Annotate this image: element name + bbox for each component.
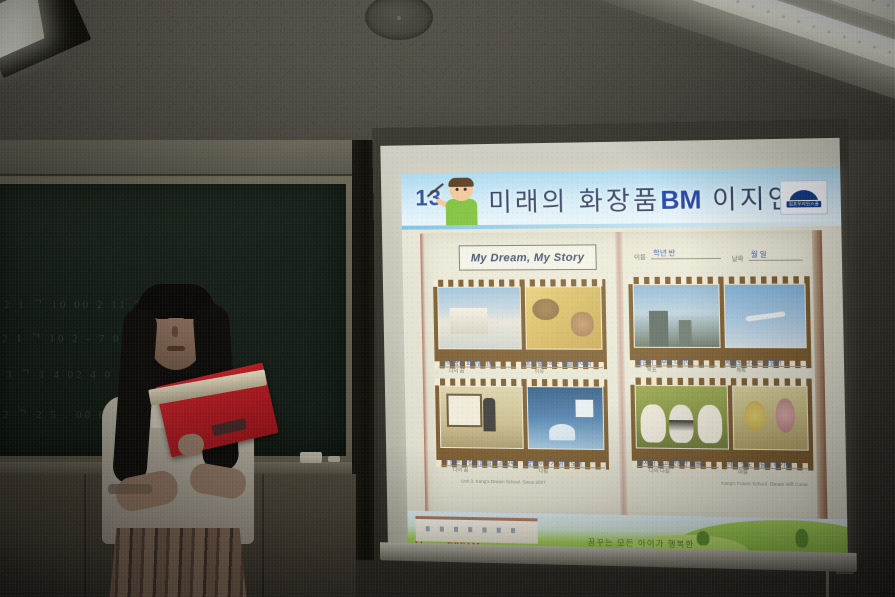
slide-title-korean: 미래의 화장품 [488, 186, 661, 217]
my-dream-heading: My Dream, My Story [459, 244, 597, 270]
notebook-field-label: 날짜 [732, 254, 744, 263]
slide-header: 13 미래의 화장품BM 이지연 김포우리인스쿨 [401, 167, 841, 230]
notebook-footnote: Unit 3. Kang's Dream School. Since 2007 [461, 478, 546, 484]
wall-upper-strip [0, 140, 378, 174]
slide-title-bm: BM [660, 186, 702, 215]
projection-screen: 13 미래의 화장품BM 이지연 김포우리인스쿨 [372, 119, 857, 572]
photo-sublabel: 나의 다짐 [649, 467, 670, 475]
photo-frame [635, 385, 729, 450]
filmstrip [433, 279, 607, 369]
student-presenter [86, 278, 276, 597]
photo-frame [732, 385, 809, 450]
screen-surface: 13 미래의 화장품BM 이지연 김포우리인스쿨 [380, 138, 848, 566]
photo-frame [633, 284, 721, 348]
photo-sublabel: 나의 꿈 [449, 367, 465, 374]
photo-sublabel: 계획 [736, 367, 746, 374]
photo-sublabel: 목표 [647, 366, 657, 373]
notebook-field-value: 월 일 [751, 249, 767, 259]
slide-title: 미래의 화장품BM 이지연 [488, 178, 796, 219]
school-logo-icon: 김포우리인스쿨 [780, 180, 828, 215]
notebook-spine [615, 232, 628, 521]
school-logo-text: 김포우리인스쿨 [787, 200, 822, 207]
projected-slide: 13 미래의 화장품BM 이지연 김포우리인스쿨 [401, 167, 848, 561]
filmstrip [435, 378, 609, 469]
my-dream-heading-label: My Dream, My Story [471, 251, 585, 264]
notebook-footnote: Kang's Future School. Dream Will Come [721, 481, 808, 488]
filmstrip [628, 276, 811, 368]
photo-sublabel: 마음 [738, 468, 748, 475]
classroom-scene: 2 1 ᄀ 10 00 2 11 2 0 1 2 1 ᄀ 10 2 - 7 0 … [0, 0, 895, 597]
photo-frame [724, 284, 807, 349]
eraser [300, 452, 322, 463]
photo-frame [437, 287, 522, 350]
photo-sublabel: 다짐 [539, 468, 549, 475]
plaid-skirt [108, 528, 248, 597]
notebook-spread: My Dream, My Story 나의 꿈은 화장품 BM 나의 꿈 내가 … [420, 230, 828, 525]
notebook-field-value: 학년 반 [653, 248, 675, 258]
photo-frame [527, 386, 605, 450]
filmstrip [630, 378, 813, 471]
photo-sublabel: 이유 [535, 368, 545, 375]
photo-sublabel: 나의 꿈 [453, 466, 469, 473]
cartoon-presenter-icon [439, 176, 485, 229]
chalk-stick [328, 456, 340, 462]
notebook-field-label: 이름 [634, 252, 646, 261]
photo-frame [525, 286, 603, 349]
photo-frame [439, 385, 524, 449]
